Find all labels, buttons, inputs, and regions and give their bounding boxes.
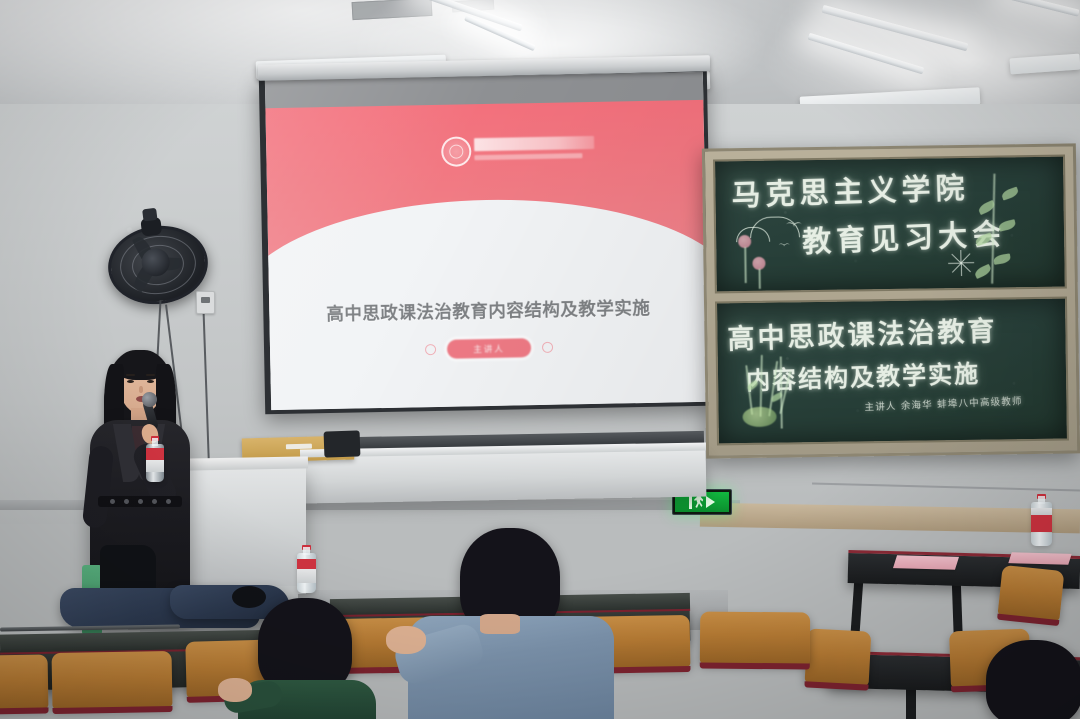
speaker-brow-right (146, 374, 155, 376)
bottle-label-red-2 (297, 559, 316, 569)
chair-left-1 (0, 654, 48, 709)
slide-speaker-badge: 主讲人 (447, 338, 531, 359)
student-3-hair (986, 640, 1080, 719)
water-bottle-lectern (146, 436, 164, 482)
water-bottle-right-table (1031, 494, 1052, 546)
speaker-belt (98, 496, 182, 507)
lecture-hall-photo: 高中思政课法治教育内容结构及教学实施 主讲人 马克思主义学院 教育见习大会 (0, 0, 1080, 719)
speaker-brow-left (126, 374, 135, 376)
pink-handout-1 (893, 555, 959, 570)
exit-door-bar-icon (689, 495, 692, 509)
chalk-flower-stem-2 (759, 269, 761, 289)
chalk-bird-3 (779, 243, 790, 248)
bottle-label-2 (297, 569, 316, 583)
bottle-label (146, 460, 164, 472)
speaker-eye-left (127, 380, 134, 383)
pink-handout-2 (1008, 552, 1071, 564)
speaker-eye-right (147, 380, 154, 383)
chair-right-1 (998, 565, 1065, 621)
student-far-right (986, 640, 1080, 719)
front-desk (300, 448, 707, 503)
chalk-bird-1 (786, 222, 802, 229)
student-1-hand (218, 678, 252, 702)
blackboard-top-panel: 马克思主义学院 教育见习大会 (713, 155, 1067, 294)
student-green-sweater (232, 598, 382, 719)
blackboard-bottom-panel: 高中思政课法治教育 内容结构及教学实施 主讲人 余海华 蚌埠八中高级教师 (715, 297, 1069, 446)
chalk-starburst (948, 250, 974, 276)
student-denim-jacket (408, 528, 618, 719)
chalk-bird-2 (801, 237, 815, 243)
chair-center-3 (700, 612, 810, 665)
slide-dot-left (425, 344, 436, 355)
student-2-neck (480, 614, 520, 634)
running-man-icon (694, 495, 704, 509)
fan-wall-mount (142, 208, 157, 222)
student-2-hand (386, 626, 426, 654)
water-bottle-rear-left (297, 545, 316, 593)
chair-right-3 (805, 628, 872, 685)
bottle-label-red (146, 448, 164, 460)
university-wordmark (474, 136, 594, 151)
blackboard-heading-line1: 马克思主义学院 (731, 165, 970, 214)
projector-screen: 高中思政课法治教育内容结构及教学实施 主讲人 (265, 72, 709, 410)
blackboard: 马克思主义学院 教育见习大会 (702, 143, 1080, 458)
chair-left-2 (52, 651, 173, 709)
slide-dot-right (542, 342, 553, 353)
wall-power-outlet (196, 291, 215, 314)
exit-arrow-icon (706, 496, 715, 508)
speaker-nose (139, 386, 143, 393)
monitor-rear (324, 430, 361, 457)
bottle-label-3 (1031, 508, 1052, 515)
bottle-label-red-3 (1031, 514, 1052, 532)
